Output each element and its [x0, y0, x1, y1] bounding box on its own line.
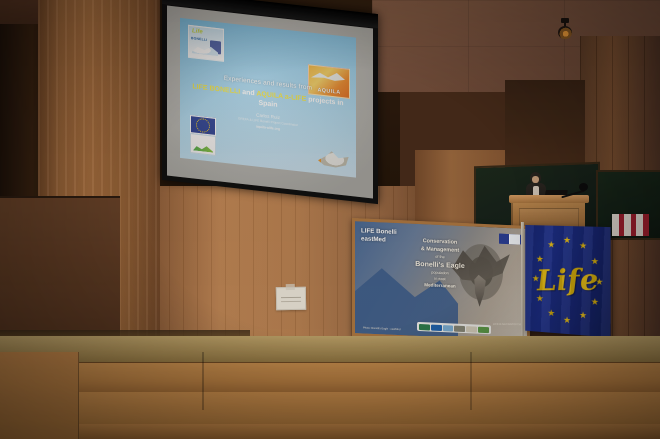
logo-bonelli-word: BONELLI [191, 36, 207, 42]
project-banner: LIFE Bonelli eastMed Conservation & Mana… [352, 218, 530, 344]
ceiling-spotlight-icon [556, 18, 574, 40]
speaker-face [532, 176, 539, 183]
eu-star-icon: ★ [547, 240, 556, 249]
banner-eu-flag [499, 234, 510, 244]
wall-flags-group [612, 214, 654, 242]
wall-flag-3 [636, 214, 649, 236]
eu-star-icon: ★ [563, 235, 572, 244]
partner-logo-3 [443, 325, 454, 331]
presentation-slide: Life BONELLI AQUILA Experiences and resu… [180, 18, 356, 178]
logo-life-word: Life [192, 28, 203, 35]
banner-eu-badge-icon [499, 234, 521, 245]
projection-screen: Life BONELLI AQUILA Experiences and resu… [162, 0, 378, 204]
eu-life-flag: ★★★★★★★★★★★★ Life [525, 225, 610, 338]
partner-logo-6 [478, 326, 489, 332]
eu-star-icon: ★ [547, 309, 556, 319]
banner-label-line2: eastMed [361, 235, 397, 245]
stage-step-riser-3 [0, 424, 660, 439]
banner-natura-badge [510, 234, 520, 244]
stage-step-riser-1 [0, 362, 660, 393]
lamp-bulb [558, 26, 572, 39]
stage-left-block [0, 352, 79, 439]
partner-logo-4 [454, 325, 465, 331]
microphone-head [579, 183, 588, 191]
posted-paper-notice [276, 287, 306, 311]
lecture-hall-photo: Life BONELLI AQUILA Experiences and resu… [0, 0, 660, 439]
eu-star-icon: ★ [595, 277, 604, 287]
slide-title-and: and [242, 89, 254, 97]
slide-eagle-photo [316, 145, 350, 173]
eu-star-icon: ★ [578, 311, 587, 321]
paper-tape [286, 284, 295, 290]
slide-title-bonelli: LIFE BONELLI [192, 83, 240, 95]
eu-star-icon: ★ [531, 274, 540, 283]
aquila-eagle-shape-icon [311, 68, 345, 86]
microphone-icon [561, 181, 587, 201]
eu-star-icon: ★ [536, 294, 545, 303]
banner-project-label: LIFE Bonelli eastMed [361, 227, 397, 245]
partner-logo-2 [431, 324, 442, 330]
eu-star-icon: ★ [590, 256, 599, 266]
left-lower-panel [0, 196, 120, 340]
life-flag-word: Life [535, 262, 599, 297]
step-seam-left [202, 352, 204, 410]
eu-star-icon: ★ [578, 241, 587, 250]
step-seam-right [470, 352, 472, 410]
eu-star-icon: ★ [563, 315, 572, 325]
green-partner-logo-icon [190, 133, 216, 156]
banner-headline: Conservation & Management of the Bonelli… [403, 237, 477, 291]
screen-surface: Life BONELLI AQUILA Experiences and resu… [167, 5, 373, 198]
banner-credit-right: LIFE14 NAT/GR/000758 [493, 323, 521, 326]
partner-logo-5 [466, 326, 477, 332]
microphone-arm [561, 190, 585, 199]
eu-star-icon: ★ [536, 254, 545, 263]
life-bonelli-logo-icon: Life BONELLI [188, 25, 224, 62]
flag-pole [521, 222, 524, 344]
partner-logo-1 [419, 324, 430, 330]
eu-star-icon: ★ [590, 297, 599, 307]
